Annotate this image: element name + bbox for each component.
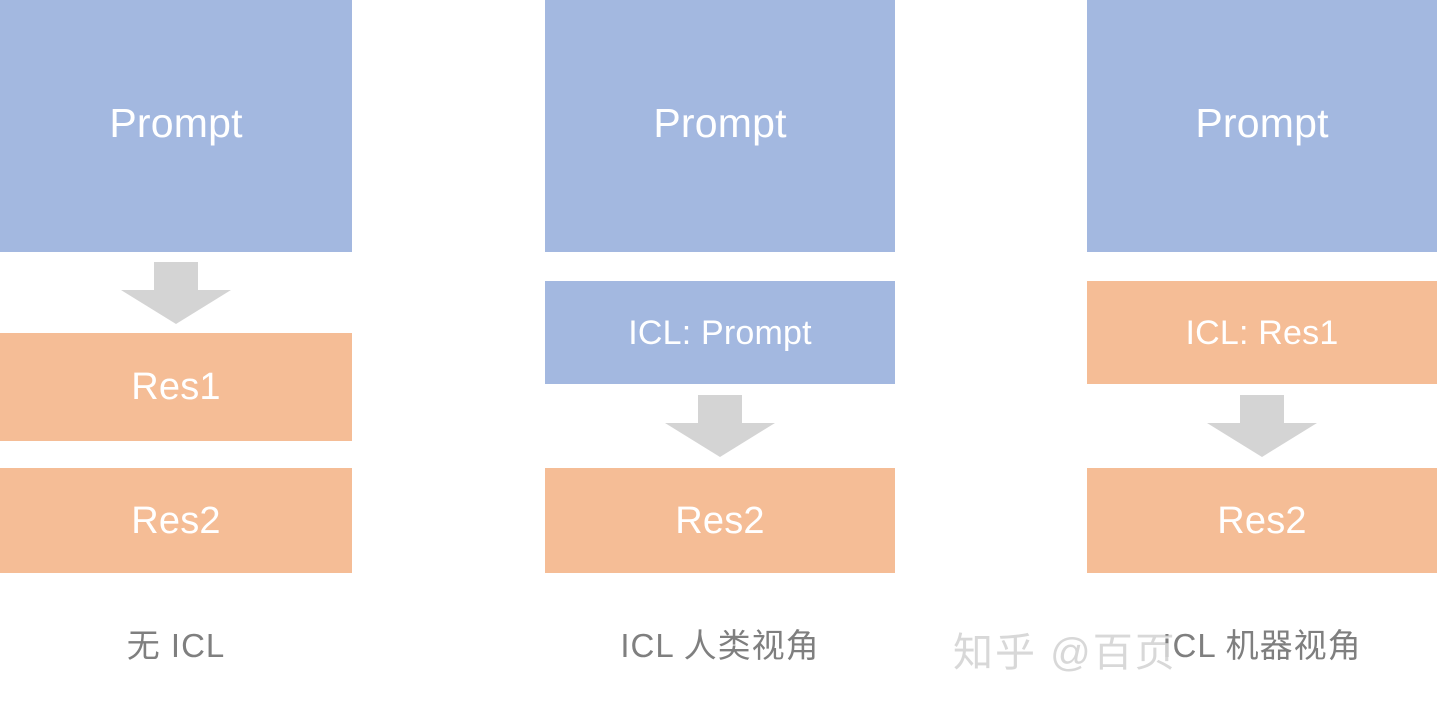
box-icl-prompt: ICL: Prompt (545, 281, 895, 384)
diagram-column-icl-machine-view: Prompt ICL: Res1 Res2 ICL 机器视角 (1087, 0, 1437, 707)
column-caption-no-icl: 无 ICL (0, 625, 352, 668)
box-icl-res1: ICL: Res1 (1087, 281, 1437, 384)
box-prompt: Prompt (0, 0, 352, 252)
icl-comparison-diagram: Prompt Res1 Res2 无 ICL Prompt ICL: Promp… (0, 0, 1440, 707)
diagram-column-no-icl: Prompt Res1 Res2 无 ICL (0, 0, 352, 707)
diagram-column-icl-human-view: Prompt ICL: Prompt Res2 ICL 人类视角 (545, 0, 895, 707)
box-label: Prompt (653, 103, 786, 144)
box-label: ICL: Prompt (628, 316, 812, 350)
box-res2: Res2 (0, 468, 352, 573)
column-caption-icl-human-view: ICL 人类视角 (545, 625, 895, 668)
box-label: Res2 (675, 502, 765, 540)
box-label: Prompt (109, 103, 242, 144)
box-label: Res1 (131, 368, 221, 406)
arrow-down-icon (665, 395, 775, 457)
box-label: Prompt (1195, 103, 1328, 144)
box-label: Res2 (1217, 502, 1307, 540)
box-res2: Res2 (545, 468, 895, 573)
arrow-down-icon (1207, 395, 1317, 457)
arrow-down-icon (121, 262, 231, 324)
box-res2: Res2 (1087, 468, 1437, 573)
box-res1: Res1 (0, 333, 352, 441)
box-prompt: Prompt (545, 0, 895, 252)
box-label: Res2 (131, 502, 221, 540)
column-caption-icl-machine-view: ICL 机器视角 (1087, 625, 1437, 668)
box-label: ICL: Res1 (1186, 316, 1339, 350)
box-prompt: Prompt (1087, 0, 1437, 252)
